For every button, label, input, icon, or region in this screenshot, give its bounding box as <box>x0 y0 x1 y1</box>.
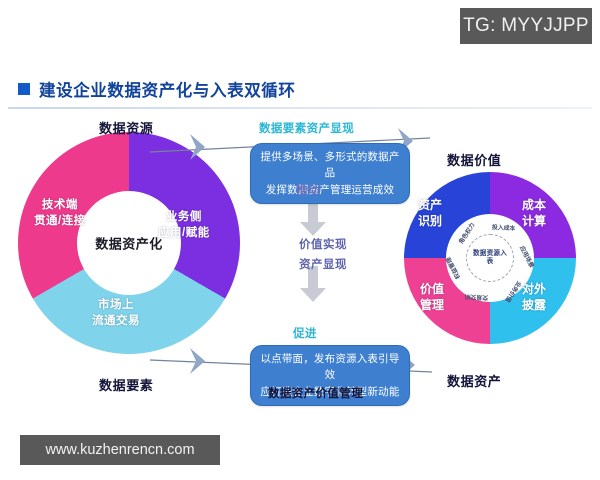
diagram-canvas: TG: MYYJJPP 建设企业数据资产化与入表双循环 数据资产化 业务侧 应用… <box>0 0 600 480</box>
inner-tag-4: 交易交织 <box>464 293 488 303</box>
quadrant-external-disclosure: 对外 披露 <box>522 282 546 313</box>
quadrant-asset-line2: 识别 <box>418 214 442 230</box>
quadrant-value-management: 价值 管理 <box>420 282 444 313</box>
left-top-caption: 数据资源 <box>99 118 153 137</box>
callout-top: 提供多场景、多形式的数据产品 发挥数据资产管理运营成效 <box>250 143 410 204</box>
quadrant-cost-line2: 计算 <box>522 214 546 230</box>
segment-business-side-line2: 应用/赋能 <box>158 226 210 242</box>
left-cycle-donut: 数据资产化 业务侧 应用/赋能 市场上 流通交易 技术端 贯通/连接 <box>18 132 240 354</box>
center-top-heading: 数据要素资产显现 <box>259 120 354 136</box>
watermark-website: www.kuzhenrencn.com <box>20 435 220 465</box>
square-bullet-icon <box>18 83 30 95</box>
right-cycle-donut: 数据资源入表 角色权力 投入成本 应用场景 业务价值 交易交织 权益管理 资产 … <box>404 172 576 344</box>
segment-market-line1: 市场上 <box>92 298 140 314</box>
segment-business-side: 业务侧 应用/赋能 <box>158 210 210 241</box>
page-title-text: 建设企业数据资产化与入表双循环 <box>39 77 296 101</box>
segment-business-side-line1: 业务侧 <box>158 210 210 226</box>
segment-technology-side: 技术端 贯通/连接 <box>34 198 86 229</box>
quadrant-asset-identification: 资产 识别 <box>418 198 442 229</box>
bottom-note: 数据资产价值管理 <box>268 385 363 401</box>
inner-tag-1: 投入成本 <box>492 222 516 232</box>
quadrant-disclosure-line1: 对外 <box>522 282 546 298</box>
callout-bottom-line1: 以点带面，发布资源入表引导效 <box>259 351 401 384</box>
watermark-telegram: TG: MYYJJPP <box>460 8 592 44</box>
title-divider <box>8 107 592 109</box>
callout-top-line1: 提供多场景、多形式的数据产品 <box>259 149 401 182</box>
arrow-down-icon <box>300 200 326 236</box>
right-core-label: 数据资源入表 <box>470 250 510 266</box>
callout-top-line2: 发挥数据资产管理运营成效 <box>259 182 401 198</box>
left-center-label: 数据资产化 <box>95 234 163 253</box>
label-promote: 促进 <box>293 325 317 341</box>
quadrant-cost-line1: 成本 <box>522 198 546 214</box>
center-value-pair: 价值实现 资产显现 <box>283 236 363 275</box>
segment-market-circulation: 市场上 流通交易 <box>92 298 140 329</box>
segment-tech-line1: 技术端 <box>34 198 86 214</box>
segment-market-line2: 流通交易 <box>92 314 140 330</box>
quadrant-cost-calculation: 成本 计算 <box>522 198 546 229</box>
segment-tech-line2: 贯通/连接 <box>34 214 86 230</box>
quadrant-value-line1: 价值 <box>420 282 444 298</box>
right-top-caption: 数据价值 <box>447 150 501 169</box>
page-title: 建设企业数据资产化与入表双循环 <box>18 77 296 101</box>
center-value-line2: 资产显现 <box>283 256 363 276</box>
chevron-right-icon-bottom-left <box>190 348 205 374</box>
quadrant-value-line2: 管理 <box>420 298 444 314</box>
quadrant-disclosure-line2: 披露 <box>522 298 546 314</box>
right-bottom-caption: 数据资产 <box>447 371 501 390</box>
label-push: 推动 <box>296 182 320 198</box>
left-bottom-caption: 数据要素 <box>99 375 153 394</box>
quadrant-asset-line1: 资产 <box>418 198 442 214</box>
center-value-line1: 价值实现 <box>283 236 363 256</box>
